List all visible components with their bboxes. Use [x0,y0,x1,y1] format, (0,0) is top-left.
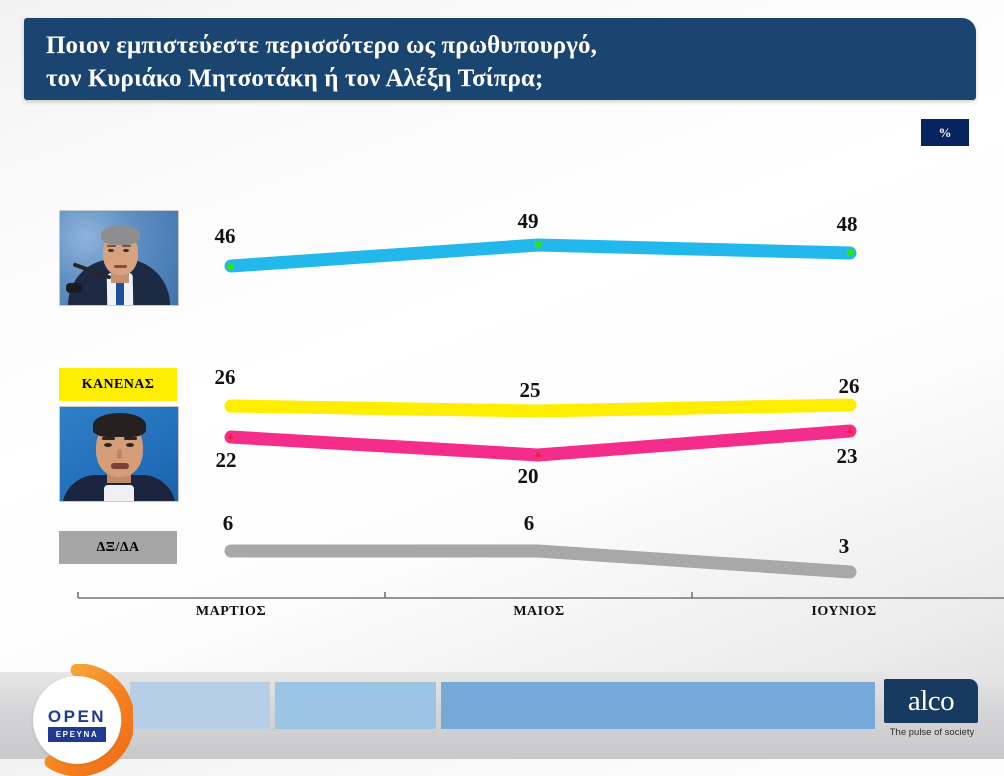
series-line-tsipras [231,431,850,455]
alco-tagline: The pulse of society [876,727,988,738]
value-label-tsipras-0: 22 [203,448,249,473]
x-axis-label-maios: ΜΑΙΟΣ [484,604,594,620]
marker-tsipras-0 [228,433,234,439]
photo-tsipras [59,406,179,502]
unit-badge: % [921,119,969,146]
open-erevna-logo: OPEN ΕΡΕΥΝΑ [21,664,133,776]
legend-chip-kanenas: ΚΑΝΕΝΑΣ [59,368,177,401]
marker-mitsotakis-0 [228,263,234,269]
x-axis-label-iounios: ΙΟΥΝΙΟΣ [789,604,899,620]
alco-wordmark: alco [908,687,954,716]
value-label-kanenas-0: 26 [202,365,248,390]
value-label-mitsotakis-0: 46 [202,224,248,249]
value-label-mitsotakis-1: 49 [505,209,551,234]
footer-bar-3 [441,682,875,729]
open-wordmark: OPEN [33,707,121,727]
value-label-dxda-1: 6 [506,511,552,536]
alco-logo: alco [884,679,978,723]
legend-chip-dxda: ΔΞ/ΔΑ [59,531,177,564]
series-line-kanenas [231,405,850,411]
value-label-dxda-2: 3 [821,534,867,559]
footer-bar-1 [130,682,270,729]
value-label-kanenas-1: 25 [507,378,553,403]
photo-mitsotakis [59,210,179,306]
value-label-tsipras-1: 20 [505,464,551,489]
marker-tsipras-2 [847,427,853,433]
series-line-mitsotakis [231,245,850,266]
footer-bar-2 [275,682,436,729]
page-title: Ποιον εμπιστεύεστε περισσότερο ως πρωθυπ… [46,30,946,95]
value-label-dxda-0: 6 [205,511,251,536]
value-label-mitsotakis-2: 48 [824,212,870,237]
x-axis-label-martios: ΜΑΡΤΙΟΣ [176,604,286,620]
marker-mitsotakis-1 [535,242,541,248]
value-label-tsipras-2: 23 [824,444,870,469]
marker-mitsotakis-2 [847,250,853,256]
value-label-kanenas-2: 26 [826,374,872,399]
slide-canvas: Ποιον εμπιστεύεστε περισσότερο ως πρωθυπ… [0,0,1004,759]
open-subword: ΕΡΕΥΝΑ [48,727,106,742]
title-banner: Ποιον εμπιστεύεστε περισσότερο ως πρωθυπ… [24,18,976,100]
series-line-dxda [231,551,850,572]
marker-tsipras-1 [535,451,541,457]
